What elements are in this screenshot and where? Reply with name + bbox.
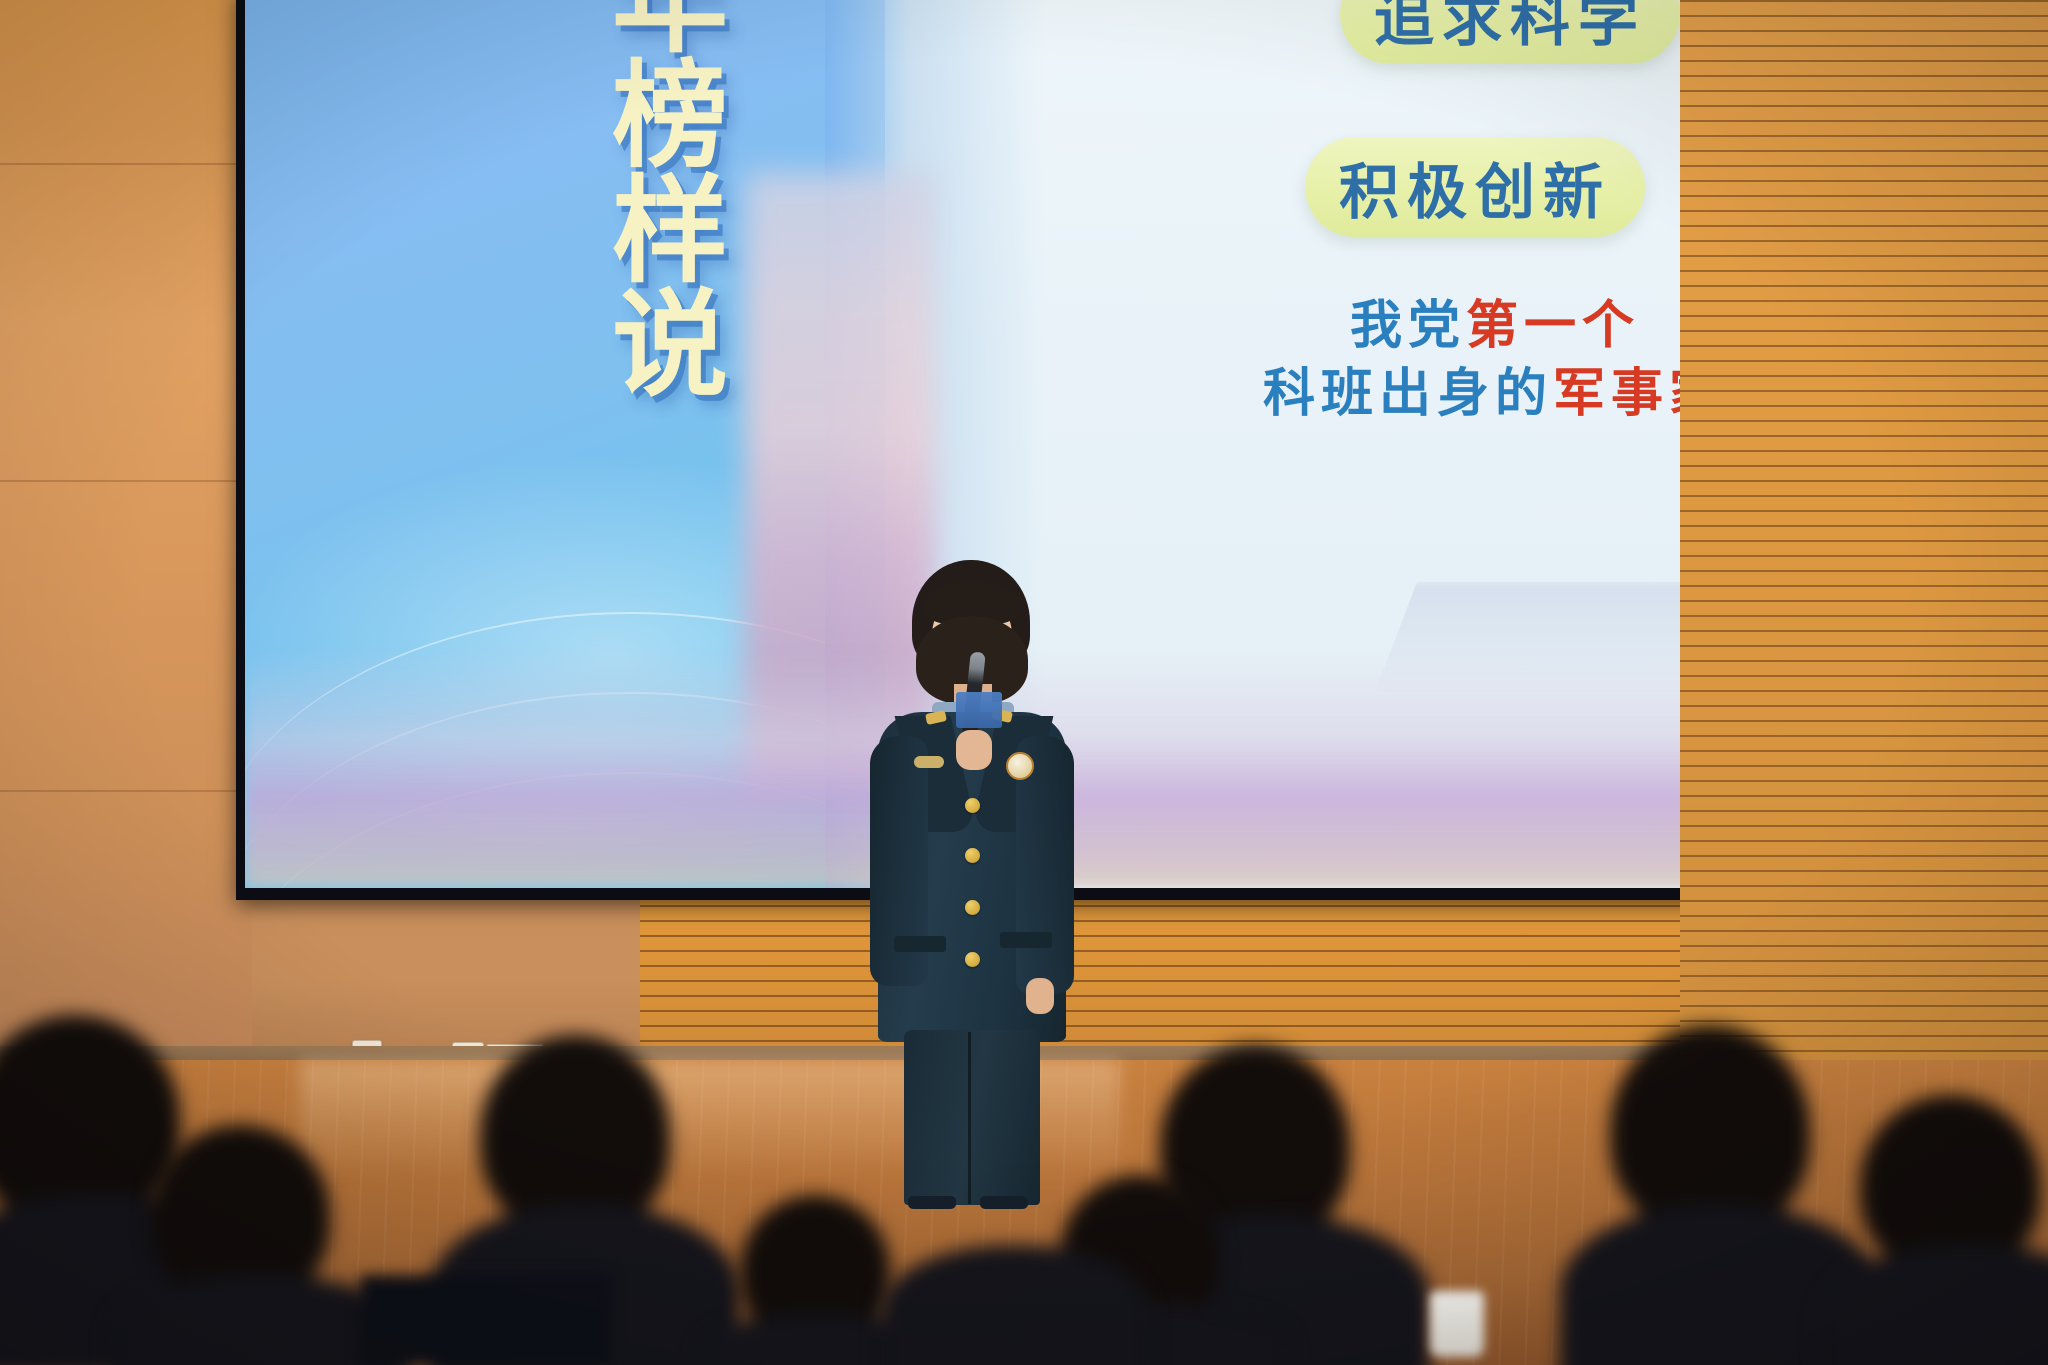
title-char-4: 说	[612, 288, 728, 403]
wing-badge	[914, 756, 944, 768]
audience-member	[1560, 1025, 1860, 1365]
slide-vertical-title: 年 榜 样 说	[590, 0, 750, 403]
uniform-pocket-right	[1000, 932, 1052, 948]
title-char-2: 榜	[612, 59, 728, 174]
title-char-3: 样	[612, 174, 728, 289]
slatted-wall-panel-right	[1680, 0, 2048, 1060]
speaker-hand-holding-mic	[956, 730, 992, 770]
headline-1-blue: 我党	[1350, 295, 1466, 356]
uniform-pocket-left	[894, 936, 946, 952]
auditorium-scene: 年 榜 样 说 追求科学 积极创新 我党第一个 科班出身的军事家 海	[0, 0, 2048, 1365]
speaker-officer	[860, 560, 1080, 1200]
wall-seam	[0, 163, 252, 165]
wall-seam	[0, 480, 252, 482]
uniform-button	[965, 848, 980, 863]
uniform-button	[965, 952, 980, 967]
round-medal-badge	[1006, 752, 1034, 780]
audience-member	[880, 1185, 1140, 1365]
slide-badge-pursue-science: 追求科学	[1340, 0, 1680, 64]
headline-1-red: 第一个	[1466, 295, 1640, 356]
headline-2-blue: 科班出身的	[1263, 363, 1553, 424]
audience-mug	[1430, 1291, 1484, 1357]
audience-member	[1840, 1065, 2048, 1365]
microphone-flag	[956, 692, 1002, 728]
speaker-hand-lower	[1026, 978, 1054, 1014]
wall-seam	[0, 790, 252, 792]
trouser-seam	[968, 1032, 971, 1204]
audience-laptop	[360, 1275, 610, 1365]
uniform-button	[965, 900, 980, 915]
left-wall-panel	[0, 0, 252, 1080]
uniform-button	[965, 798, 980, 813]
slide-badge-innovate: 积极创新	[1305, 137, 1645, 237]
